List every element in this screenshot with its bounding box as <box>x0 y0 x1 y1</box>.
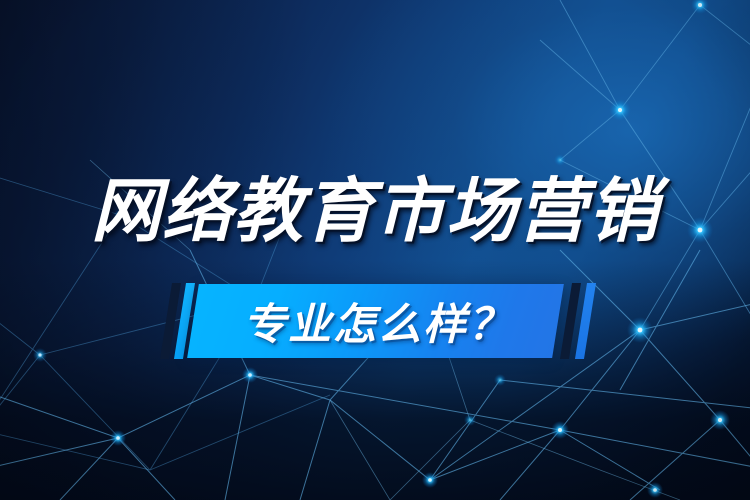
banner-headline: 网络教育市场营销 <box>91 176 659 246</box>
promo-banner: 网络教育市场营销 专业怎么样？ <box>0 0 750 500</box>
headline-container: 网络教育市场营销 <box>0 176 750 246</box>
subtitle-bar <box>187 284 564 358</box>
subtitle-bar-group: 专业怎么样？ <box>0 283 750 363</box>
